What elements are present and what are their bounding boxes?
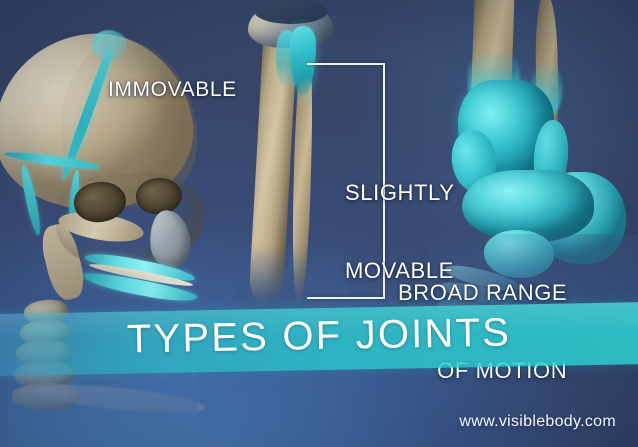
site-url: www.visiblebody.com [459,413,616,431]
label-broad-range-line1: BROAD RANGE [398,280,567,306]
bracket-top-arm [307,63,385,65]
label-immovable: IMMOVABLE [108,78,237,103]
infographic-canvas: IMMOVABLE SLIGHTLY MOVABLE BROAD RANGE O… [0,0,638,447]
label-slightly-movable-line1: SLIGHTLY [345,180,455,206]
